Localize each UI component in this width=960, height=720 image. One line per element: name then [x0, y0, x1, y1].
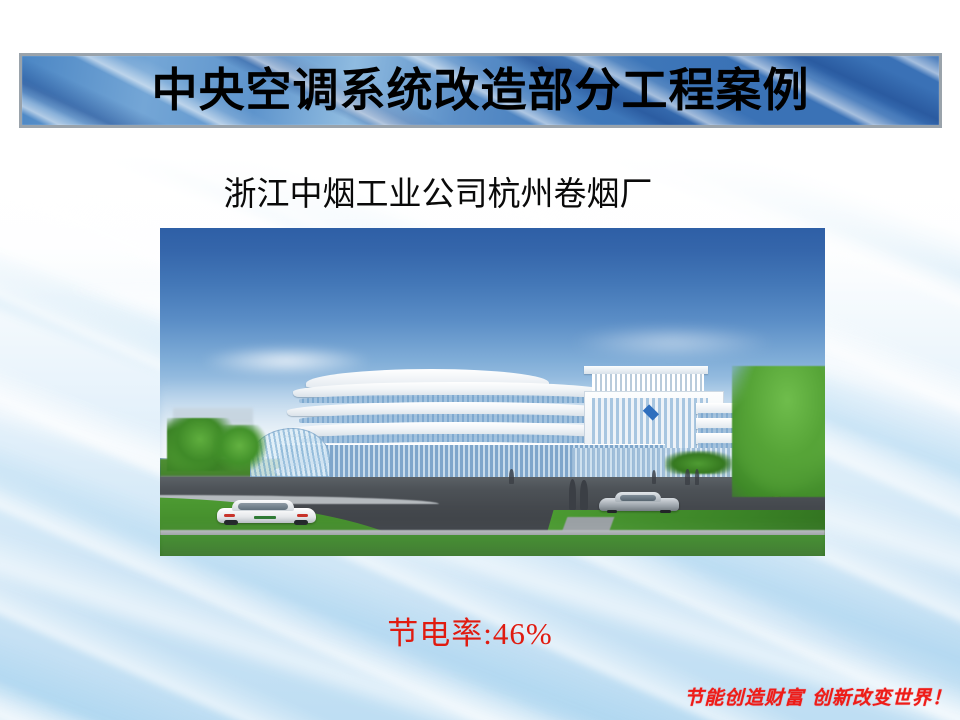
photo-tree-left-2 — [213, 425, 266, 471]
title-banner: 中央空调系统改造部分工程案例 — [19, 53, 942, 128]
photo-tree-large — [732, 366, 825, 497]
page-title: 中央空调系统改造部分工程案例 — [152, 67, 810, 113]
photo-tower-roof-slab — [584, 366, 708, 375]
footer-slogan: 节能创造财富 创新改变世界！ — [684, 683, 952, 710]
photo-car-grey — [599, 492, 679, 513]
subtitle-text: 浙江中烟工业公司杭州卷烟厂 — [0, 167, 918, 215]
saving-rate-text: 节电率:46% — [0, 608, 950, 653]
photo-pedestrian — [509, 469, 514, 484]
photo-motion-blur — [160, 517, 825, 556]
photo-pedestrian — [580, 480, 587, 510]
photo-pedestrian — [569, 479, 576, 510]
photo-car-window — [620, 495, 657, 501]
photo-car-window — [238, 503, 288, 510]
building-photo — [160, 228, 825, 556]
photo-pedestrian — [685, 469, 690, 485]
photo-cloud-left — [200, 346, 373, 376]
slide-canvas: 中央空调系统改造部分工程案例 浙江中烟工业公司杭州卷烟厂 — [0, 0, 960, 720]
photo-pedestrian — [695, 469, 700, 485]
photo-shrub-right — [665, 451, 732, 474]
photo-car-wheel — [607, 510, 617, 514]
photo-cloud-right — [572, 326, 772, 359]
photo-pedestrian — [652, 470, 656, 484]
photo-car-wheel — [660, 510, 670, 514]
